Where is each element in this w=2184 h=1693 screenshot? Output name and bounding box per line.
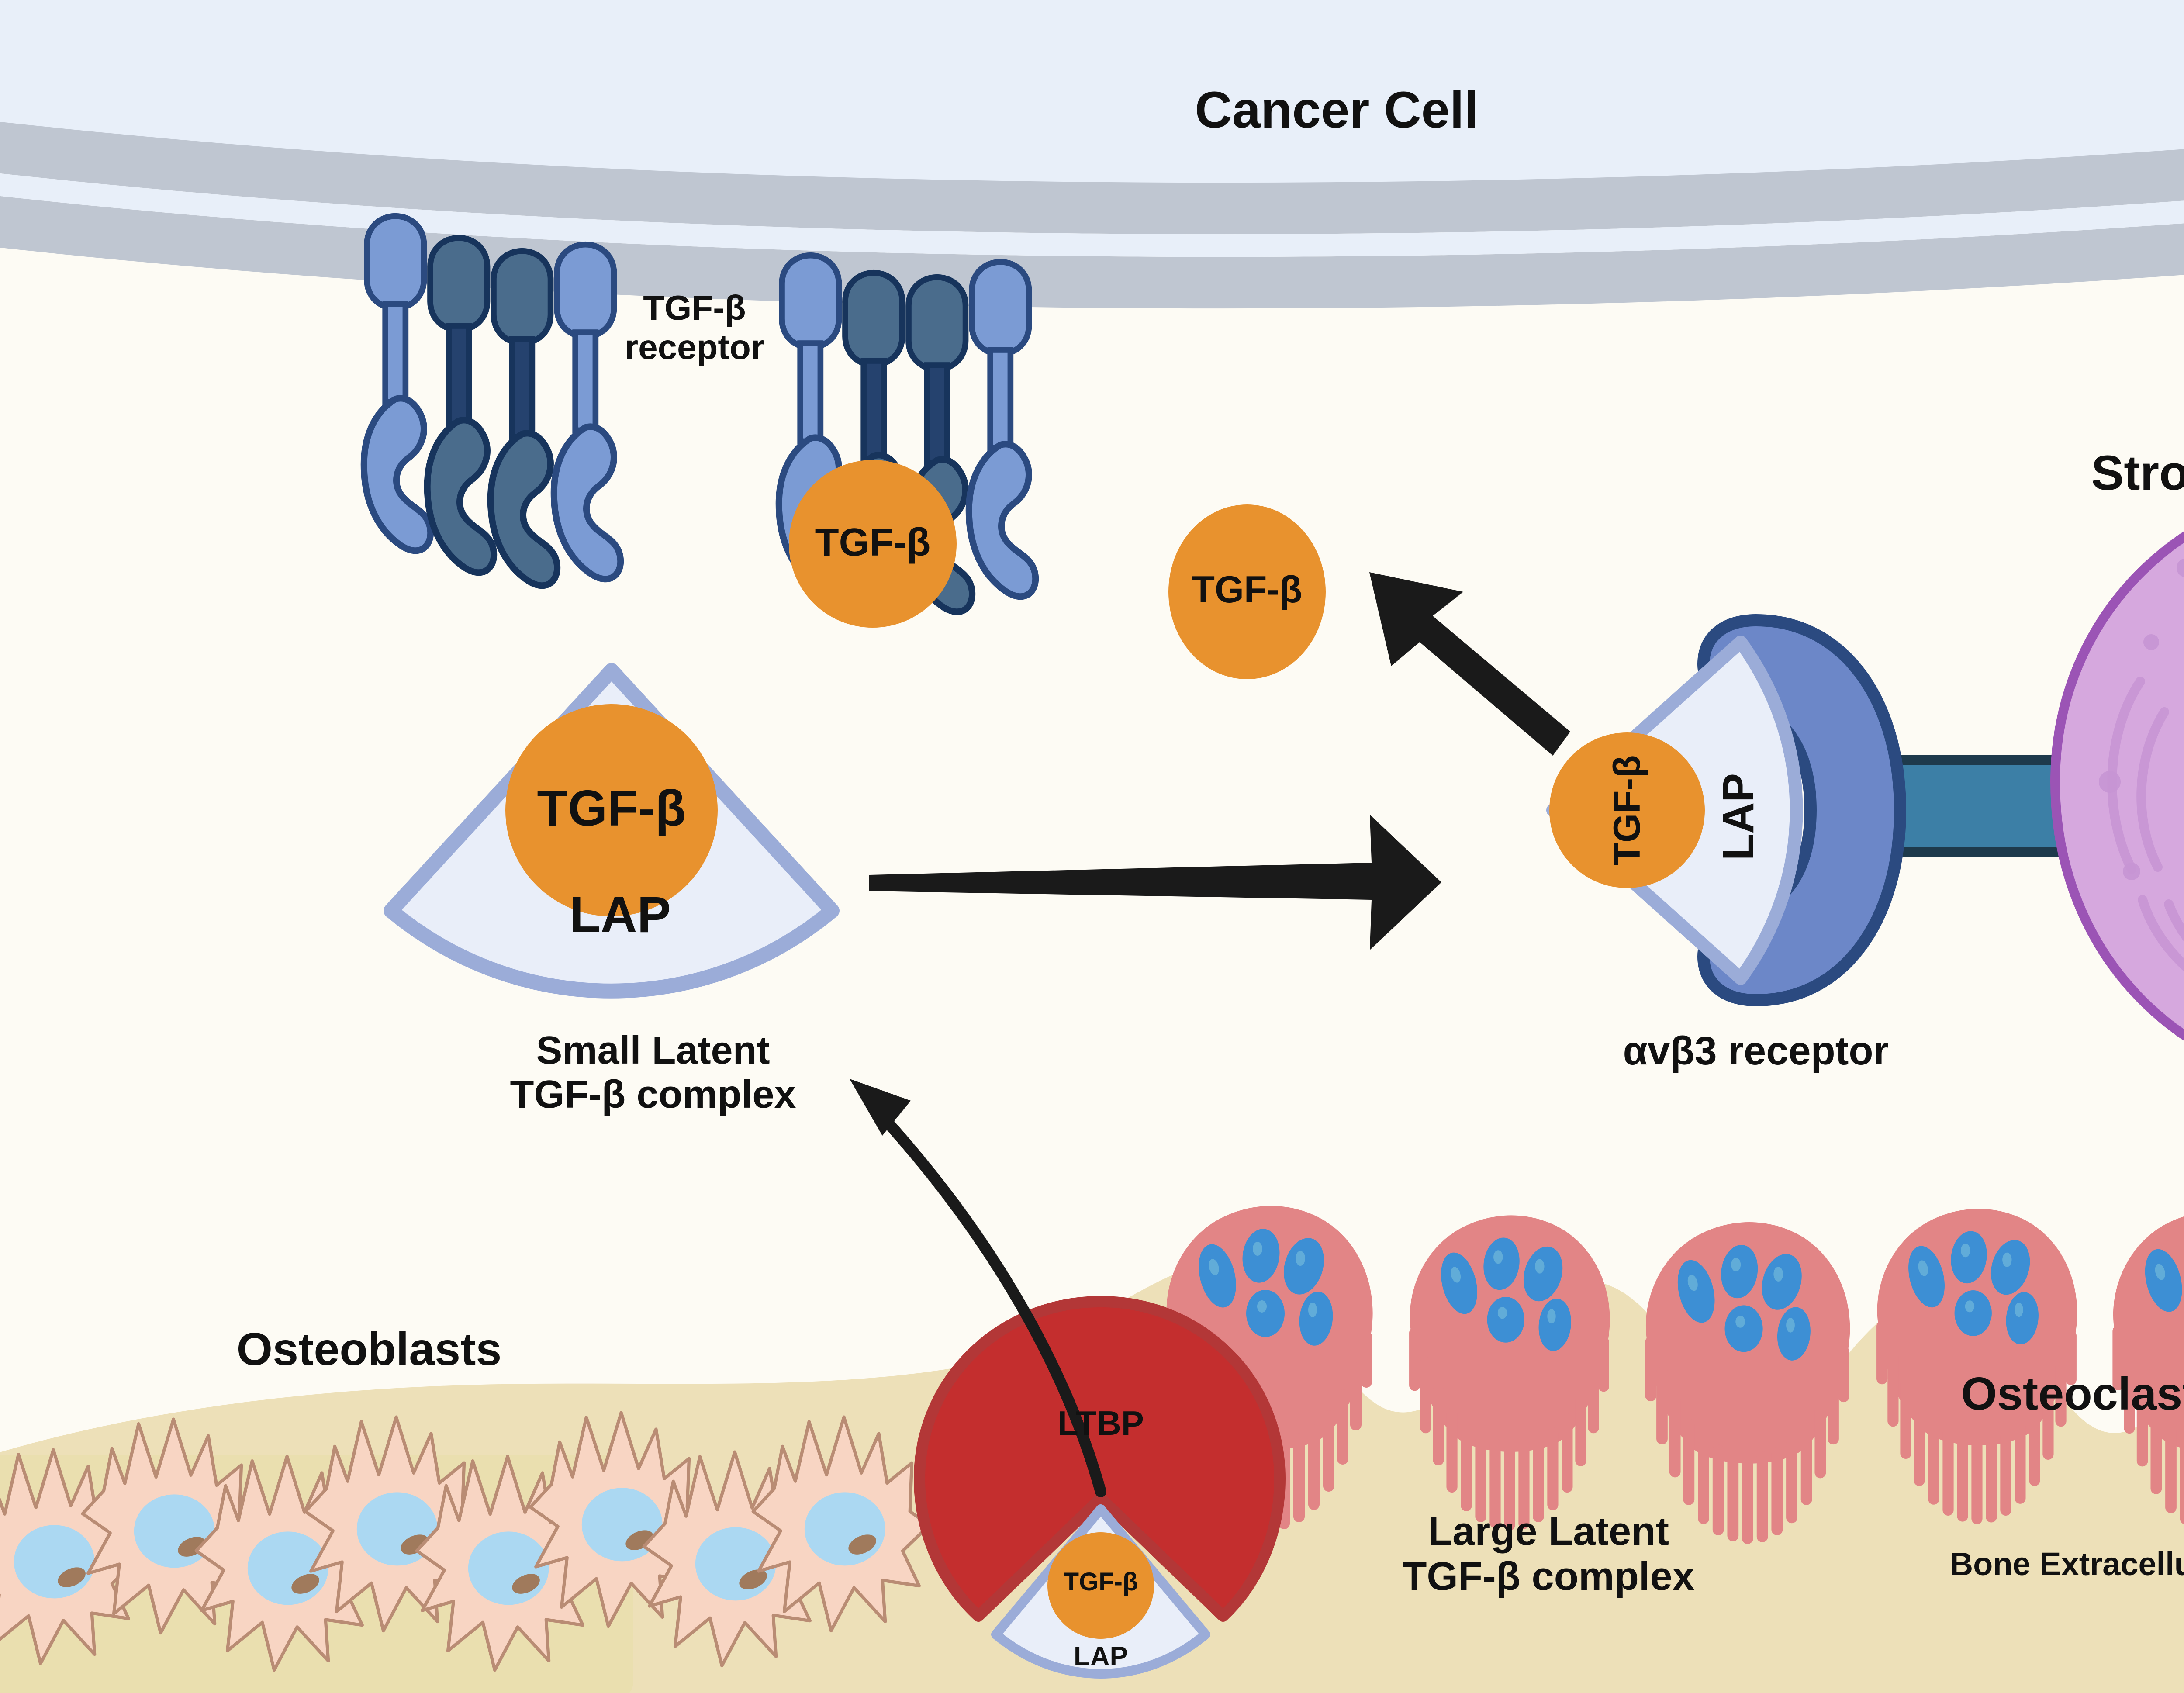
stromal-cell [2055,485,2184,1088]
page-title-cancer-cell: Cancer Cell [1195,81,1478,139]
label-osteoclasts: Osteoclasts [1961,1368,2184,1420]
label-tgf-beta-receptor: TGF-β receptor [625,288,764,366]
tgf-beta-label-on-integrin: TGF-β [1606,755,1648,865]
lap-label-integrin-bound: LAP [1714,773,1763,860]
label-ltbp: LTBP [1057,1404,1144,1442]
label-osteoblasts: Osteoblasts [237,1323,502,1375]
release-arrow [1369,572,1570,756]
label-avb3-receptor: αvβ3 receptor [1623,1029,1889,1074]
transfer-arrow [869,815,1441,950]
label-small-latent-complex: Small Latent TGF-β complex [510,1029,796,1117]
lap-label-large-latent: LAP [1074,1641,1128,1672]
tgf-beta-label-receptor-bound: TGF-β [815,521,931,565]
diagram-canvas: Cancer Cell TGF-β receptor TGF-β TGF-β T… [0,0,2184,1693]
tgf-beta-label-free: TGF-β [1192,569,1302,611]
label-bone-ecm: Bone Extracellular Matrix (ECM) [1950,1546,2184,1582]
tgf-beta-label-small-latent: TGF-β [537,780,686,837]
tgf-beta-label-large-latent: TGF-β [1064,1568,1138,1596]
label-large-latent-complex: Large Latent TGF-β complex [1402,1509,1695,1599]
label-stromal-cell: Stromal cell [2091,446,2184,500]
lap-label-small-latent: LAP [570,887,671,943]
